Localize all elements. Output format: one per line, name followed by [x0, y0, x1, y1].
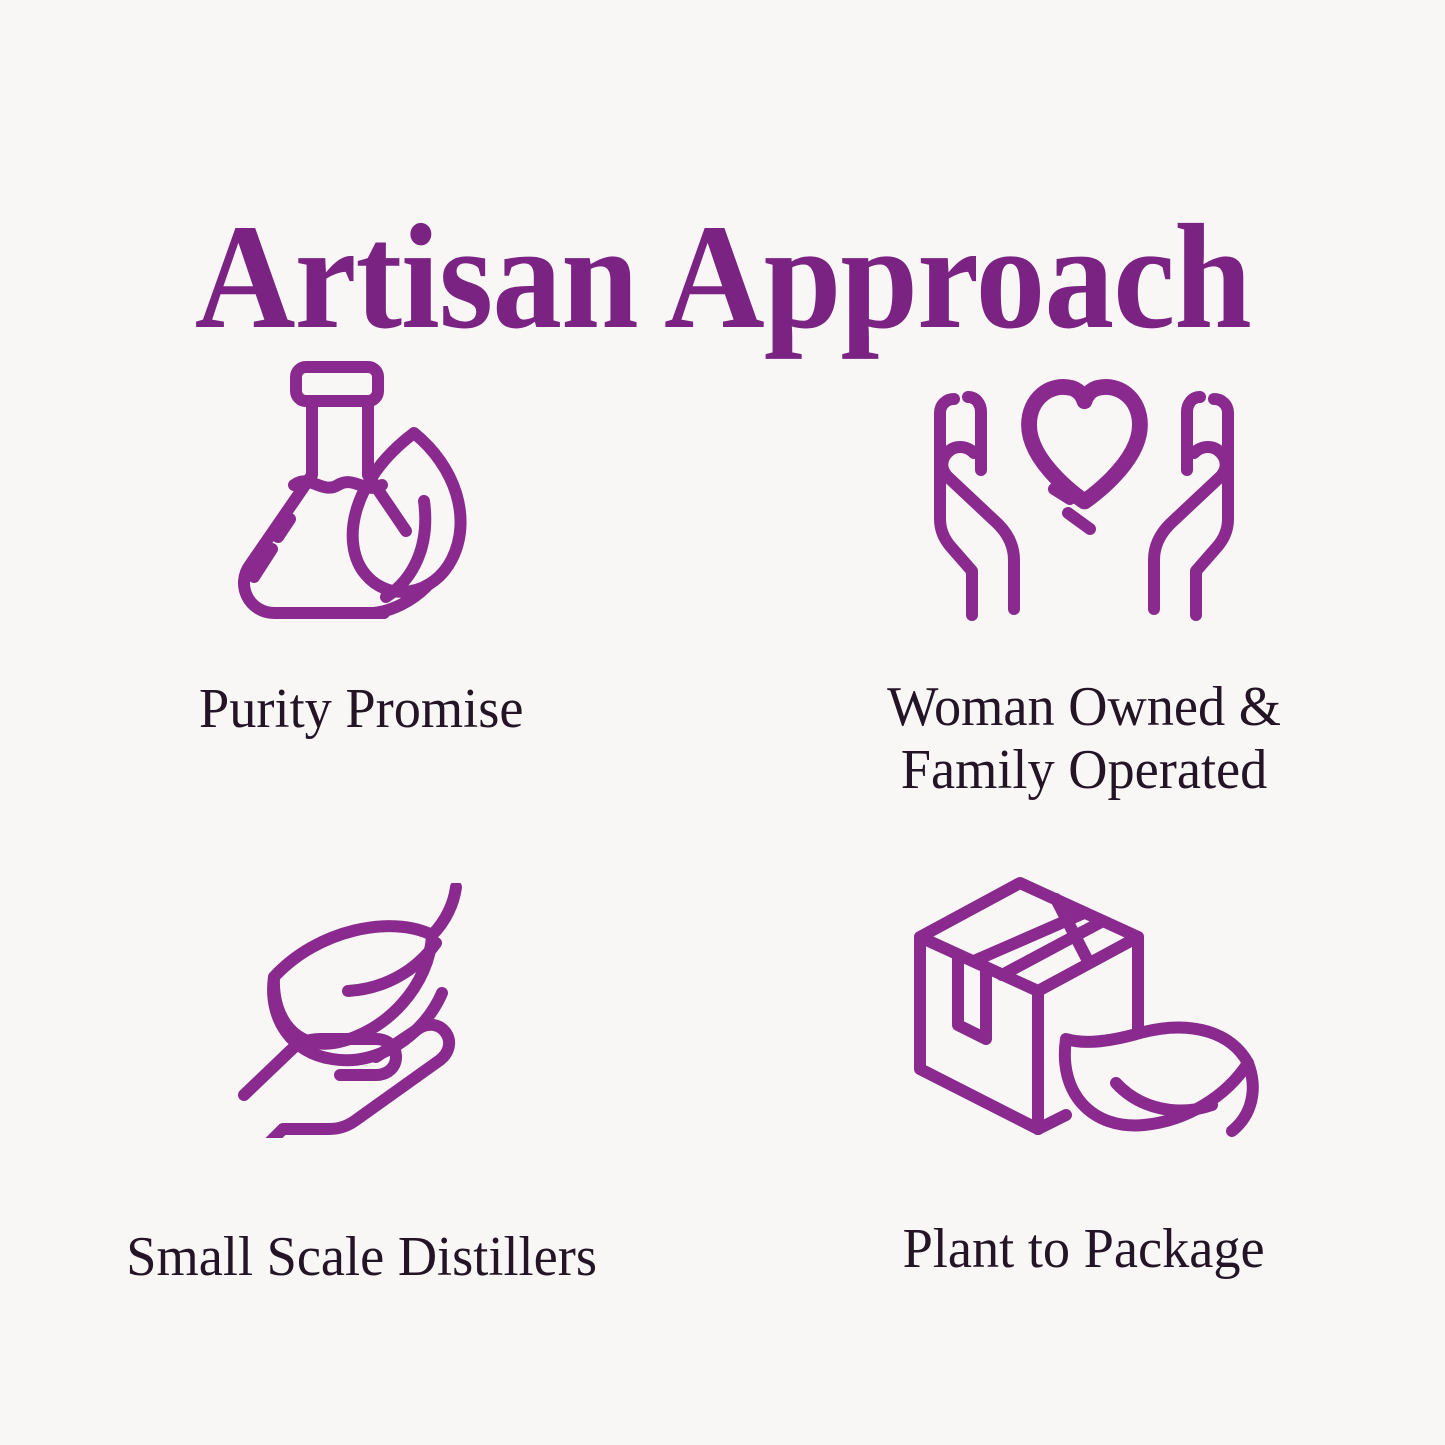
feature-item-purity-promise: Purity Promise [0, 320, 723, 850]
feature-item-woman-owned: Woman Owned & Family Operated [723, 320, 1445, 850]
box-leaf-icon [898, 856, 1270, 1156]
artisan-approach-panel: Artisan Approach [0, 0, 1445, 1445]
feature-grid: Purity Promise [0, 320, 1445, 1380]
hands-holding-heart-icon [934, 342, 1234, 642]
leaf-over-hand-icon [236, 860, 486, 1160]
feature-item-small-scale-distillers: Small Scale Distillers [0, 850, 723, 1380]
feature-label: Plant to Package [903, 1218, 1265, 1281]
feature-label: Small Scale Distillers [126, 1226, 597, 1289]
feature-label: Woman Owned & Family Operated [887, 676, 1281, 803]
flask-leaf-icon [228, 336, 494, 636]
feature-item-plant-to-package: Plant to Package [723, 850, 1445, 1380]
feature-label: Purity Promise [199, 678, 523, 741]
